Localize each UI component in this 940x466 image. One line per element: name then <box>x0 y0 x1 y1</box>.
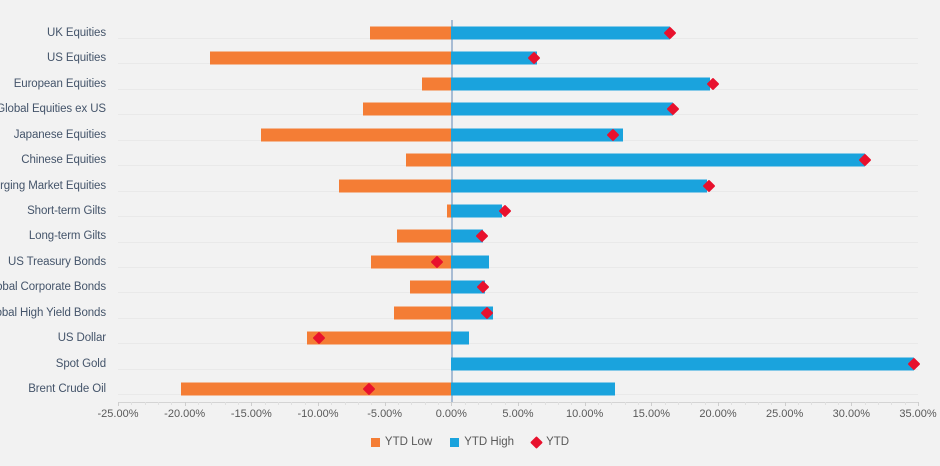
bar-ytd-high <box>451 383 615 396</box>
axis-minor-tick <box>571 402 572 405</box>
axis-minor-tick <box>491 402 492 405</box>
legend-item[interactable]: YTD <box>532 436 569 448</box>
axis-minor-tick <box>291 402 292 405</box>
axis-tick-label: 35.00% <box>899 408 936 420</box>
legend-diamond-icon <box>530 436 543 449</box>
axis-tick-label: 0.00% <box>436 408 467 420</box>
legend-label: YTD <box>546 436 569 448</box>
category-label: European Equities <box>14 78 106 90</box>
axis-tick-label: -10.00% <box>298 408 339 420</box>
bar-ytd-low <box>181 383 452 396</box>
axis-minor-tick <box>625 402 626 405</box>
axis-minor-tick <box>265 402 266 405</box>
bar-ytd-low <box>307 332 451 345</box>
bar-ytd-low <box>261 128 452 141</box>
category-label: UK Equities <box>47 27 106 39</box>
category-label: US Dollar <box>58 332 106 344</box>
category-label: Global High Yield Bonds <box>0 307 106 319</box>
axis-minor-tick <box>865 402 866 405</box>
category-axis-labels: UK EquitiesUS EquitiesEuropean EquitiesG… <box>0 20 112 402</box>
axis-tick <box>118 402 119 406</box>
gridline <box>118 267 918 268</box>
chart-container: UK EquitiesUS EquitiesEuropean EquitiesG… <box>0 0 940 466</box>
axis-minor-tick <box>598 402 599 405</box>
axis-tick-label: 30.00% <box>833 408 870 420</box>
axis-tick-label: 10.00% <box>566 408 603 420</box>
axis-tick <box>451 402 452 406</box>
axis-tick-label: 25.00% <box>766 408 803 420</box>
axis-minor-tick <box>905 402 906 405</box>
axis-minor-tick <box>505 402 506 405</box>
axis-tick <box>518 402 519 406</box>
axis-minor-tick <box>198 402 199 405</box>
legend-label: YTD High <box>464 436 514 448</box>
bar-ytd-low <box>339 179 451 192</box>
axis-minor-tick <box>225 402 226 405</box>
bar-ytd-low <box>370 26 451 39</box>
axis-tick <box>785 402 786 406</box>
gridline <box>118 216 918 217</box>
bar-ytd-high <box>451 154 864 167</box>
axis-minor-tick <box>478 402 479 405</box>
axis-minor-tick <box>305 402 306 405</box>
axis-minor-tick <box>558 402 559 405</box>
axis-minor-tick <box>238 402 239 405</box>
bar-ytd-high <box>451 332 468 345</box>
axis-minor-tick <box>425 402 426 405</box>
legend-label: YTD Low <box>385 436 432 448</box>
bar-ytd-low <box>210 52 451 65</box>
axis-tick <box>385 402 386 406</box>
axis-minor-tick <box>531 402 532 405</box>
bar-ytd-high <box>451 179 707 192</box>
category-label: Chinese Equities <box>21 154 106 166</box>
bar-ytd-high <box>451 205 502 218</box>
category-label: US Equities <box>47 52 106 64</box>
axis-minor-tick <box>878 402 879 405</box>
axis-minor-tick <box>838 402 839 405</box>
axis-minor-tick <box>345 402 346 405</box>
category-label: Short-term Gilts <box>27 205 106 217</box>
axis-minor-tick <box>158 402 159 405</box>
axis-tick <box>318 402 319 406</box>
axis-minor-tick <box>411 402 412 405</box>
category-label: Japanese Equities <box>14 129 106 141</box>
axis-minor-tick <box>331 402 332 405</box>
axis-tick <box>718 402 719 406</box>
axis-tick <box>585 402 586 406</box>
axis-minor-tick <box>691 402 692 405</box>
axis-minor-tick <box>438 402 439 405</box>
gridline <box>118 242 918 243</box>
category-label: Global Corporate Bonds <box>0 281 106 293</box>
category-label: Brent Crude Oil <box>28 383 106 395</box>
axis-minor-tick <box>358 402 359 405</box>
axis-minor-tick <box>638 402 639 405</box>
chart-legend: YTD LowYTD HighYTD <box>0 436 940 448</box>
axis-tick <box>918 402 919 406</box>
axis-tick-label: -20.00% <box>164 408 205 420</box>
bar-ytd-low <box>422 77 451 90</box>
axis-tick <box>251 402 252 406</box>
bar-ytd-high <box>451 77 710 90</box>
axis-minor-tick <box>891 402 892 405</box>
legend-item[interactable]: YTD High <box>450 436 514 448</box>
axis-tick-label: -5.00% <box>367 408 402 420</box>
bar-ytd-low <box>363 103 451 116</box>
bar-ytd-low <box>406 154 451 167</box>
axis-tick <box>651 402 652 406</box>
axis-minor-tick <box>798 402 799 405</box>
axis-minor-tick <box>611 402 612 405</box>
axis-minor-tick <box>825 402 826 405</box>
axis-tick-label: -15.00% <box>231 408 272 420</box>
gridline <box>118 343 918 344</box>
axis-minor-tick <box>278 402 279 405</box>
axis-tick-label: 15.00% <box>633 408 670 420</box>
bar-ytd-high <box>451 255 488 268</box>
bar-ytd-low <box>397 230 452 243</box>
axis-minor-tick <box>745 402 746 405</box>
bar-ytd-low <box>410 281 451 294</box>
axis-minor-tick <box>665 402 666 405</box>
axis-minor-tick <box>771 402 772 405</box>
axis-minor-tick <box>758 402 759 405</box>
axis-tick <box>851 402 852 406</box>
axis-minor-tick <box>545 402 546 405</box>
axis-minor-tick <box>811 402 812 405</box>
bar-ytd-high <box>451 128 623 141</box>
axis-tick-label: -25.00% <box>98 408 139 420</box>
bar-ytd-high <box>451 26 670 39</box>
axis-minor-tick <box>131 402 132 405</box>
axis-tick-label: 5.00% <box>502 408 533 420</box>
legend-swatch-icon <box>371 438 380 447</box>
axis-minor-tick <box>371 402 372 405</box>
axis-tick-label: 20.00% <box>699 408 736 420</box>
gridline <box>118 318 918 319</box>
bar-ytd-high <box>451 103 672 116</box>
axis-minor-tick <box>211 402 212 405</box>
axis-minor-tick <box>398 402 399 405</box>
category-label: Global Equities ex US <box>0 103 106 115</box>
axis-minor-tick <box>171 402 172 405</box>
category-label: US Treasury Bonds <box>8 256 106 268</box>
legend-item[interactable]: YTD Low <box>371 436 432 448</box>
value-axis: -25.00%-20.00%-15.00%-10.00%-5.00%0.00%5… <box>118 402 918 424</box>
category-label: Long-term Gilts <box>29 230 106 242</box>
bar-ytd-high <box>451 357 914 370</box>
category-label: Emerging Market Equities <box>0 180 106 192</box>
axis-minor-tick <box>465 402 466 405</box>
axis-minor-tick <box>678 402 679 405</box>
axis-minor-tick <box>145 402 146 405</box>
plot-area <box>118 20 918 402</box>
axis-minor-tick <box>731 402 732 405</box>
category-label: Spot Gold <box>56 358 106 370</box>
axis-minor-tick <box>705 402 706 405</box>
bar-ytd-high <box>451 52 536 65</box>
bar-ytd-low <box>394 306 451 319</box>
legend-swatch-icon <box>450 438 459 447</box>
gridline <box>118 292 918 293</box>
axis-tick <box>185 402 186 406</box>
